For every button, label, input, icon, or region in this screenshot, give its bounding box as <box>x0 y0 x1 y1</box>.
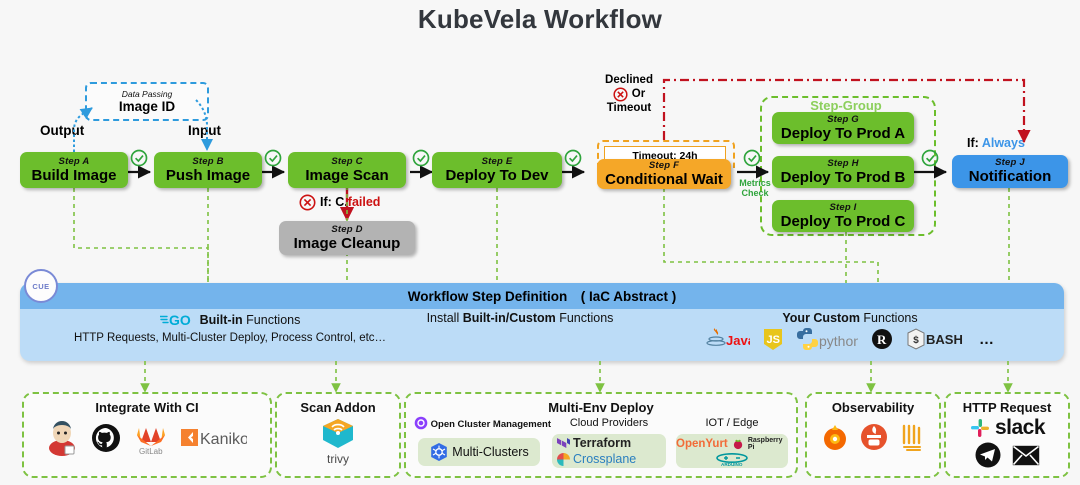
check-icon-ce <box>414 151 429 166</box>
cue-badge: CUE <box>24 269 58 303</box>
check-icon-ef <box>566 151 581 166</box>
success-check-icons <box>0 0 1080 485</box>
check-icon-hj <box>923 151 938 166</box>
check-icon-bc <box>266 151 281 166</box>
check-icon-ab <box>132 151 147 166</box>
check-icon-fg <box>745 151 760 166</box>
